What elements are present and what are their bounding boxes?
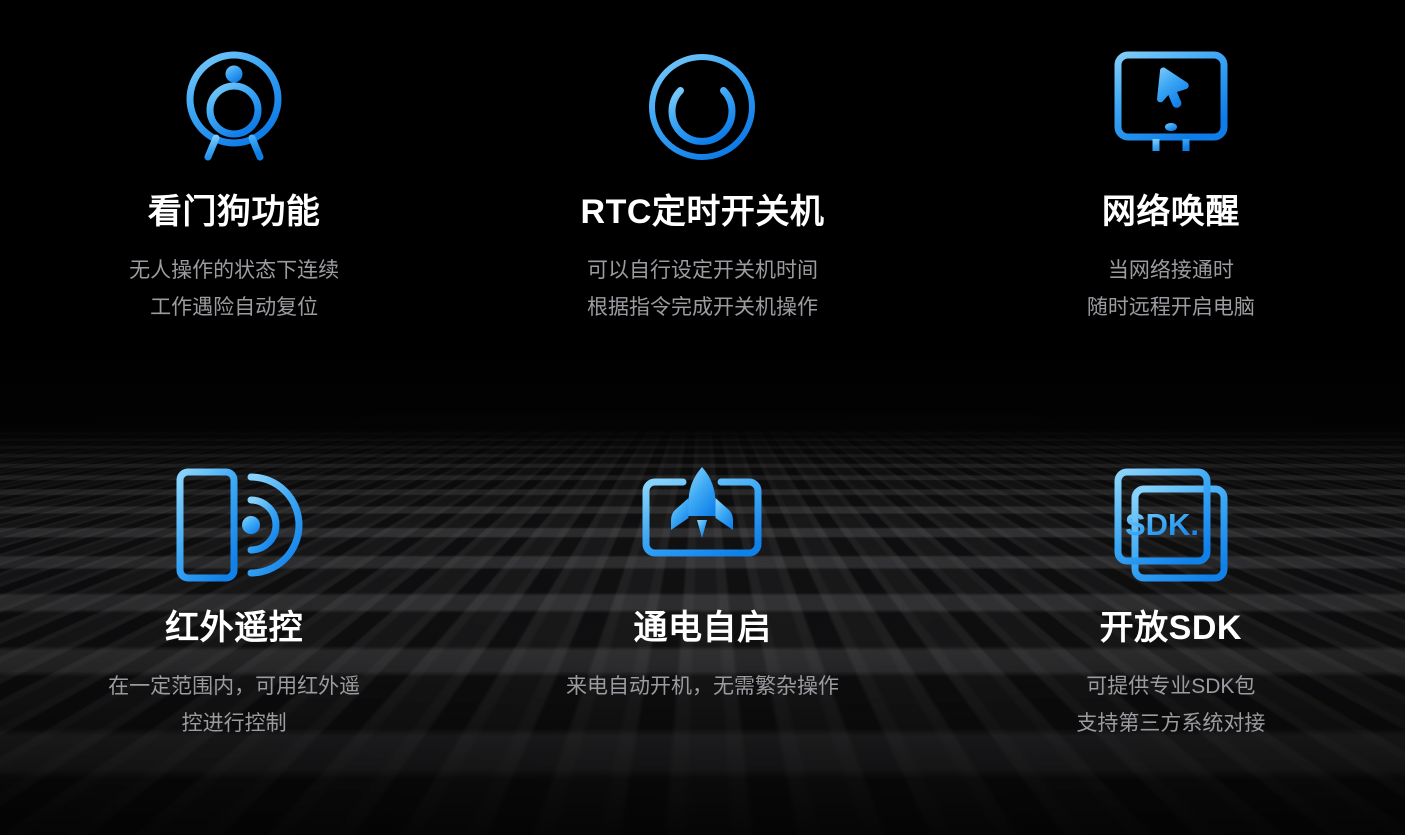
feature-description: 来电自动开机，无需繁杂操作 — [566, 669, 839, 706]
feature-desc-line: 支持第三方系统对接 — [1076, 706, 1265, 743]
feature-grid: 看门狗功能 无人操作的状态下连续 工作遇险自动复位 RTC定时开关机 可以自行设… — [0, 0, 1405, 835]
feature-desc-line: 随时远程开启电脑 — [1087, 290, 1255, 327]
feature-desc-line: 可以自行设定开关机时间 — [587, 253, 818, 290]
feature-title: 网络唤醒 — [1102, 194, 1240, 231]
feature-desc-line: 根据指令完成开关机操作 — [587, 290, 818, 327]
feature-description: 可提供专业SDK包 支持第三方系统对接 — [1076, 669, 1265, 743]
feature-title: 通电自启 — [633, 610, 771, 647]
feature-title: RTC定时开关机 — [581, 194, 825, 231]
webcam-icon — [169, 42, 299, 172]
feature-desc-line: 可提供专业SDK包 — [1076, 669, 1265, 706]
feature-title: 看门狗功能 — [148, 194, 321, 231]
feature-card-infrared-remote[interactable]: 红外遥控 在一定范围内，可用红外遥 控进行控制 — [0, 420, 468, 835]
feature-title: 开放SDK — [1100, 610, 1242, 647]
infrared-remote-icon — [169, 460, 299, 590]
feature-title: 红外遥控 — [165, 610, 303, 647]
feature-description: 可以自行设定开关机时间 根据指令完成开关机操作 — [587, 253, 818, 327]
feature-card-open-sdk[interactable]: SDK. 开放SDK 可提供专业SDK包 支持第三方系统对接 — [937, 420, 1405, 835]
feature-desc-line: 当网络接通时 — [1087, 253, 1255, 290]
feature-desc-line: 无人操作的状态下连续 — [129, 253, 339, 290]
feature-description: 在一定范围内，可用红外遥 控进行控制 — [108, 669, 360, 743]
monitor-play-icon — [1106, 42, 1236, 172]
feature-card-watchdog[interactable]: 看门狗功能 无人操作的状态下连续 工作遇险自动复位 — [0, 0, 468, 420]
feature-card-wake-on-lan[interactable]: 网络唤醒 当网络接通时 随时远程开启电脑 — [937, 0, 1405, 420]
sdk-icon-label: SDK. — [1125, 507, 1199, 542]
feature-card-rtc-power[interactable]: RTC定时开关机 可以自行设定开关机时间 根据指令完成开关机操作 — [468, 0, 936, 420]
power-button-icon — [637, 42, 767, 172]
feature-desc-line: 来电自动开机，无需繁杂操作 — [566, 669, 839, 706]
feature-desc-line: 在一定范围内，可用红外遥 — [108, 669, 360, 706]
monitor-rocket-icon — [637, 460, 767, 590]
feature-desc-line: 控进行控制 — [108, 706, 360, 743]
feature-description: 无人操作的状态下连续 工作遇险自动复位 — [129, 253, 339, 327]
feature-section: 看门狗功能 无人操作的状态下连续 工作遇险自动复位 RTC定时开关机 可以自行设… — [0, 0, 1405, 835]
feature-desc-line: 工作遇险自动复位 — [129, 290, 339, 327]
feature-card-auto-power-on[interactable]: 通电自启 来电自动开机，无需繁杂操作 — [468, 420, 936, 835]
feature-description: 当网络接通时 随时远程开启电脑 — [1087, 253, 1255, 327]
sdk-windows-icon: SDK. — [1106, 460, 1236, 590]
